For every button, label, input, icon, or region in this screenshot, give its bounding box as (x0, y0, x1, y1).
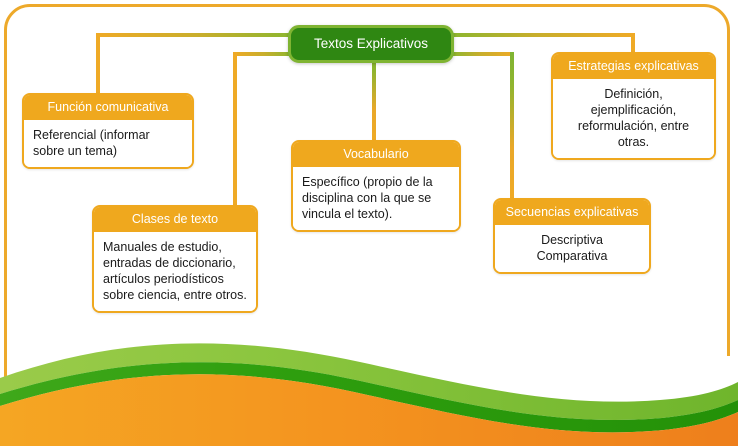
connector-root-to-clases-branch (233, 52, 291, 56)
frame-bottom-mask (0, 392, 738, 446)
node-clases-de-texto-header: Clases de texto (94, 207, 256, 232)
node-vocabulario[interactable]: Vocabulario Específico (propio de la dis… (291, 140, 461, 232)
connector-to-estrategias-explicativas (631, 33, 635, 53)
node-vocabulario-body: Específico (propio de la disciplina con … (293, 167, 459, 230)
node-estrategias-explicativas-header: Estrategias explicativas (553, 54, 714, 79)
node-secuencias-explicativas-header: Secuencias explicativas (495, 200, 649, 225)
connector-to-funcion-comunicativa (96, 33, 100, 95)
connector-root-to-estrategias-branch (452, 33, 635, 37)
node-estrategias-explicativas[interactable]: Estrategias explicativas Definición, eje… (551, 52, 716, 160)
node-funcion-comunicativa-body: Referencial (informar sobre un tema) (24, 120, 192, 167)
node-secuencias-explicativas[interactable]: Secuencias explicativas Descriptiva Comp… (493, 198, 651, 274)
node-funcion-comunicativa-header: Función comunicativa (24, 95, 192, 120)
connector-to-clases-de-texto (233, 52, 237, 207)
root-node-textos-explicativos[interactable]: Textos Explicativos (288, 25, 454, 63)
node-estrategias-explicativas-body: Definición, ejemplificación, reformulaci… (553, 79, 714, 158)
slide-canvas: Textos Explicativos Función comunicativa… (0, 0, 738, 446)
connector-root-to-left-branch (96, 33, 290, 37)
connector-to-vocabulario (372, 50, 376, 142)
node-funcion-comunicativa[interactable]: Función comunicativa Referencial (inform… (22, 93, 194, 169)
node-secuencias-explicativas-body: Descriptiva Comparativa (495, 225, 649, 272)
connector-to-secuencias-explicativas (510, 52, 514, 199)
frame-bottom-mask-inner (14, 356, 738, 396)
node-vocabulario-header: Vocabulario (293, 142, 459, 167)
node-clases-de-texto[interactable]: Clases de texto Manuales de estudio, ent… (92, 205, 258, 313)
connector-root-to-secuencias-branch (452, 52, 514, 56)
node-clases-de-texto-body: Manuales de estudio, entradas de diccion… (94, 232, 256, 311)
root-node-label: Textos Explicativos (314, 36, 428, 51)
